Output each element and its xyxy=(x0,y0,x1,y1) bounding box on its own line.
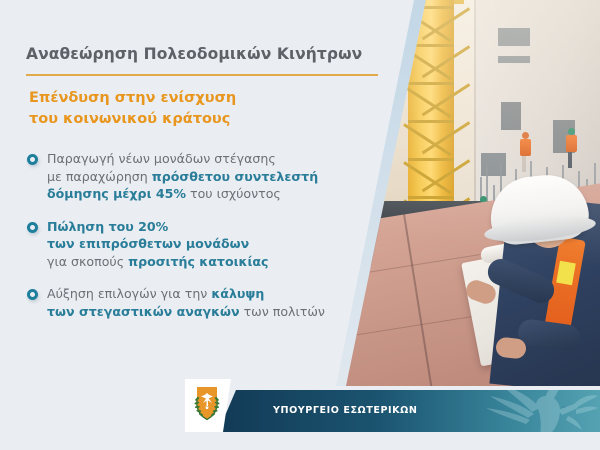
emblem-card xyxy=(185,379,231,432)
list-item: Πώληση του 20% των επιπρόσθετων μονάδων … xyxy=(26,218,356,271)
bottom-strip xyxy=(0,432,600,450)
bullet-2-line-3-bold: προσιτής κατοικίας xyxy=(128,254,268,269)
bullet-text: Πώληση του 20% των επιπρόσθετων μονάδων … xyxy=(47,218,356,271)
dove-with-olive-branch-icon xyxy=(448,390,598,432)
bullet-3-line-1-bold: κάλυψη xyxy=(211,286,264,301)
bullet-3-line-2-bold: των στεγαστικών αναγκών xyxy=(47,304,240,319)
bullet-3-line-1-plain: Αύξηση επιλογών για την xyxy=(47,286,211,301)
bullet-1-line-1: Παραγωγή νέων μονάδων στέγασης xyxy=(47,151,276,166)
bullet-1-line-3-bold: δόμησης μέχρι 45% xyxy=(47,186,186,201)
bullet-1-line-2-bold: πρόσθετου συντελεστή xyxy=(152,169,318,184)
subtitle-line-1: Επένδυση στην ενίσχυση xyxy=(29,88,349,109)
ring-bullet-icon xyxy=(27,289,38,300)
infographic-canvas: Αναθεώρηση Πολεοδομικών Κινήτρων Επένδυσ… xyxy=(0,0,600,450)
bullet-list: Παραγωγή νέων μονάδων στέγασης με παραχώ… xyxy=(26,150,356,335)
bullet-1-line-2-plain: με παραχώρηση xyxy=(47,169,152,184)
ministry-footer-bar: ΥΠΟΥΡΓΕΙΟ ΕΣΩΤΕΡΙΚΩΝ xyxy=(218,390,600,432)
ring-bullet-icon xyxy=(27,222,38,233)
bullet-2-line-3-plain: για σκοπούς xyxy=(47,254,128,269)
subtitle: Επένδυση στην ενίσχυση του κοινωνικού κρ… xyxy=(29,88,349,130)
bullet-2-line-2: των επιπρόσθετων μονάδων xyxy=(47,236,249,251)
bullet-3-line-2-plain: των πολιτών xyxy=(240,304,325,319)
construction-site-photo xyxy=(330,0,600,386)
title-underline xyxy=(26,74,378,76)
bullet-1-line-3-plain: του ισχύοντος xyxy=(186,186,281,201)
ring-bullet-icon xyxy=(27,154,38,165)
bullet-text: Παραγωγή νέων μονάδων στέγασης με παραχώ… xyxy=(47,150,356,203)
photo-haze-overlay xyxy=(330,0,600,386)
list-item: Αύξηση επιλογών για την κάλυψη των στεγα… xyxy=(26,285,356,320)
bullet-text: Αύξηση επιλογών για την κάλυψη των στεγα… xyxy=(47,285,356,320)
text-panel: Αναθεώρηση Πολεοδομικών Κινήτρων Επένδυσ… xyxy=(0,0,360,386)
page-title: Αναθεώρηση Πολεοδομικών Κινήτρων xyxy=(26,45,356,63)
ministry-label: ΥΠΟΥΡΓΕΙΟ ΕΣΩΤΕΡΙΚΩΝ xyxy=(273,405,417,416)
bullet-2-line-1: Πώληση του 20% xyxy=(47,219,168,234)
cyprus-coat-of-arms-icon xyxy=(191,384,223,426)
list-item: Παραγωγή νέων μονάδων στέγασης με παραχώ… xyxy=(26,150,356,203)
subtitle-line-2: του κοινωνικού κράτους xyxy=(29,109,349,130)
